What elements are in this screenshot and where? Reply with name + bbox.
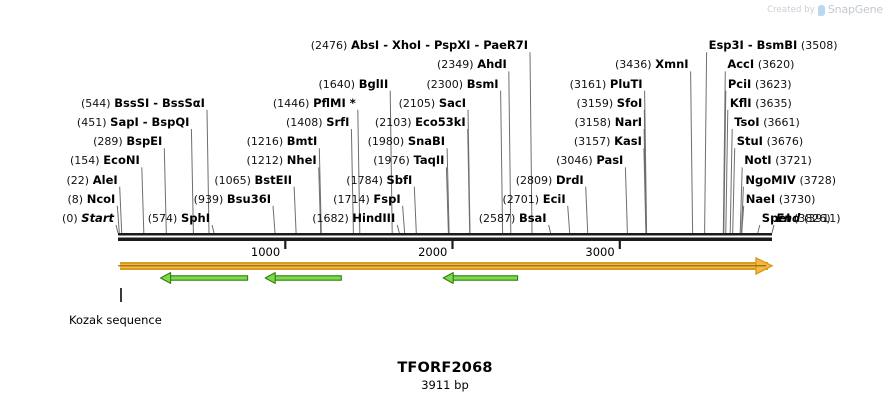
site-position: (3620): [758, 58, 795, 71]
site-enzyme: Eco53kI: [415, 115, 466, 129]
site-enzyme: EciI: [543, 192, 566, 206]
site-enzyme: PciI: [728, 77, 751, 91]
site-enzyme: AbsI - XhoI - PspXI - PaeR7I: [351, 38, 528, 52]
primer-arrowhead-reverse: [265, 273, 275, 284]
site-enzyme: EcoNI: [103, 153, 139, 167]
site-position: (3508): [801, 39, 838, 52]
restriction-site-label[interactable]: End (3911): [776, 212, 841, 225]
restriction-site-label[interactable]: (0) Start: [62, 212, 114, 225]
site-position: (2809): [516, 174, 553, 187]
restriction-site-label[interactable]: (2476) AbsI - XhoI - PspXI - PaeR7I: [311, 39, 528, 52]
axis-tick-label: 1000: [251, 245, 280, 259]
restriction-site-label[interactable]: (2701) EciI: [503, 193, 566, 206]
site-leader-line: [772, 225, 774, 233]
site-position: (3046): [556, 154, 593, 167]
site-position: (451): [77, 116, 107, 129]
primer-arrows-group: [161, 273, 518, 284]
site-position: (2587): [479, 212, 516, 225]
site-enzyme: BssSI - BssSαI: [114, 96, 205, 110]
site-enzyme: PflMI *: [313, 96, 356, 110]
axis-tick: [451, 241, 453, 249]
backbone-line-top: [118, 233, 772, 236]
restriction-site-label[interactable]: (2809) DrdI: [516, 174, 584, 187]
restriction-site-label[interactable]: (1446) PflMI *: [273, 97, 356, 110]
restriction-site-label[interactable]: (2587) BsaI: [479, 212, 547, 225]
site-enzyme: KflI: [730, 96, 752, 110]
site-leader-line: [625, 167, 627, 233]
site-position: (1408): [286, 116, 323, 129]
restriction-site-label[interactable]: (1784) SbfI: [346, 174, 412, 187]
site-leader-line: [705, 52, 707, 233]
primer-arrow-body: [274, 276, 341, 280]
site-enzyme: KasI: [614, 134, 642, 148]
sequence-length: 3911 bp: [0, 378, 890, 392]
site-position: (2300): [426, 78, 463, 91]
site-enzyme: AleI: [93, 173, 118, 187]
site-position: (22): [67, 174, 90, 187]
restriction-site-label[interactable]: (1980) SnaBI: [368, 135, 446, 148]
site-position: (3728): [799, 174, 836, 187]
ruler-group: [118, 233, 772, 241]
site-position: (3676): [767, 135, 804, 148]
site-leader-line: [116, 225, 118, 233]
restriction-site-label[interactable]: (3161) PluTI: [570, 78, 643, 91]
site-leader-line: [117, 206, 119, 233]
site-position: (3161): [570, 78, 607, 91]
site-leader-line: [509, 71, 511, 233]
site-leader-line: [294, 187, 296, 233]
site-enzyme: NarI: [615, 115, 642, 129]
site-leader-line: [120, 187, 122, 233]
site-enzyme: XmnI: [655, 57, 688, 71]
site-enzyme: BmtI: [287, 134, 318, 148]
restriction-site-label[interactable]: (8) NcoI: [67, 193, 115, 206]
site-enzyme: SbfI: [387, 173, 413, 187]
site-enzyme: HindIII: [352, 211, 395, 225]
axis-tick-label: 2000: [418, 245, 447, 259]
primer-arrowhead-reverse: [443, 273, 453, 284]
site-position: (3623): [755, 78, 792, 91]
restriction-site-label[interactable]: (3158) NarI: [575, 116, 643, 129]
site-position: (2701): [503, 193, 540, 206]
site-enzyme: BstEII: [255, 173, 293, 187]
restriction-site-label[interactable]: (3159) SfoI: [577, 97, 643, 110]
restriction-site-label[interactable]: (1976) TaqII: [373, 154, 444, 167]
site-position: (544): [81, 97, 111, 110]
site-position: (3158): [575, 116, 612, 129]
site-position: (3730): [779, 193, 816, 206]
sequence-title-block: TFORF2068 3911 bp: [0, 360, 890, 392]
site-position: (3436): [615, 58, 652, 71]
restriction-site-label[interactable]: (1216) BmtI: [247, 135, 318, 148]
restriction-site-label[interactable]: (22) AleI: [67, 174, 118, 187]
site-enzyme: SfoI: [617, 96, 642, 110]
site-position: (3159): [577, 97, 614, 110]
primer-arrow: [265, 273, 341, 284]
site-leader-line: [726, 110, 728, 233]
site-enzyme: BsmI: [467, 77, 499, 91]
primer-arrowhead-reverse: [161, 273, 171, 284]
site-enzyme: SnaBI: [408, 134, 445, 148]
site-leader-line: [142, 167, 144, 233]
site-enzyme: SacI: [439, 96, 466, 110]
primer-arrow: [161, 273, 248, 284]
orf-arrow-group: [118, 258, 772, 274]
restriction-site-label[interactable]: KflI (3635): [730, 97, 792, 110]
restriction-site-label[interactable]: (451) SapI - BspQI: [77, 116, 189, 129]
restriction-site-label[interactable]: NgoMIV (3728): [745, 174, 836, 187]
site-enzyme: NheI: [287, 153, 317, 167]
site-enzyme: PluTI: [610, 77, 643, 91]
restriction-site-label[interactable]: (1408) SrfI: [286, 116, 349, 129]
restriction-site-label[interactable]: Esp3I - BsmBI (3508): [709, 39, 838, 52]
site-position: (1784): [346, 174, 383, 187]
site-leader-line: [568, 206, 570, 233]
site-enzyme: TsoI: [734, 115, 759, 129]
site-enzyme: SphI: [181, 211, 210, 225]
site-enzyme: SapI - BspQI: [110, 115, 189, 129]
site-leader-line: [549, 225, 551, 233]
restriction-site-label[interactable]: (1714) FspI: [333, 193, 400, 206]
restriction-site-label[interactable]: PciI (3623): [728, 78, 792, 91]
axis-tick-label: 3000: [585, 245, 614, 259]
site-enzyme: AccI: [727, 57, 754, 71]
site-enzyme: Start: [81, 211, 114, 225]
primer-arrow-body: [170, 276, 248, 280]
site-position: (1714): [333, 193, 370, 206]
orf-arrow-edge-bottom: [120, 268, 768, 270]
site-leader-line: [730, 129, 732, 233]
restriction-site-label[interactable]: (289) BspEI: [93, 135, 162, 148]
site-leader-line: [397, 225, 399, 233]
site-position: (2476): [311, 39, 348, 52]
axis-tick: [619, 241, 621, 249]
kozak-feature-label: Kozak sequence: [69, 313, 162, 327]
restriction-site-label[interactable]: (2103) Eco53kI: [375, 116, 466, 129]
restriction-site-label[interactable]: (3157) KasI: [574, 135, 642, 148]
site-leader-line: [530, 52, 532, 233]
sequence-name: TFORF2068: [0, 360, 890, 376]
site-enzyme: StuI: [737, 134, 763, 148]
site-enzyme: PasI: [596, 153, 623, 167]
restriction-site-label[interactable]: (2105) SacI: [399, 97, 466, 110]
site-enzyme: SrfI: [326, 115, 349, 129]
restriction-site-label[interactable]: (1640) BglII: [319, 78, 389, 91]
site-position: (1682): [312, 212, 349, 225]
restriction-site-label[interactable]: (2349) AhdI: [437, 58, 507, 71]
site-enzyme: NaeI: [746, 192, 775, 206]
restriction-site-label[interactable]: (544) BssSI - BssSαI: [81, 97, 205, 110]
kozak-feature-tick: [120, 288, 122, 302]
site-enzyme: AhdI: [477, 57, 507, 71]
restriction-site-label[interactable]: (939) Bsu36I: [194, 193, 271, 206]
site-position: (8): [67, 193, 83, 206]
site-enzyme: Esp3I - BsmBI: [709, 38, 798, 52]
site-enzyme: FspI: [373, 192, 400, 206]
site-enzyme: NgoMIV: [745, 173, 795, 187]
site-position: (1212): [247, 154, 284, 167]
backbone-line-bottom: [118, 238, 772, 242]
primer-arrow-body: [452, 276, 517, 280]
site-position: (2105): [399, 97, 436, 110]
site-position: (3635): [755, 97, 792, 110]
site-enzyme: BglII: [359, 77, 389, 91]
restriction-site-label[interactable]: StuI (3676): [737, 135, 803, 148]
site-enzyme: DrdI: [556, 173, 584, 187]
restriction-site-label[interactable]: (3436) XmnI: [615, 58, 689, 71]
restriction-site-label[interactable]: (1065) BstEII: [214, 174, 292, 187]
site-leader-line: [403, 206, 405, 233]
site-leader-line: [212, 225, 214, 233]
site-position: (574): [148, 212, 178, 225]
axis-tick: [284, 241, 286, 249]
restriction-site-label[interactable]: TsoI (3661): [734, 116, 800, 129]
site-position: (3157): [574, 135, 611, 148]
site-leader-line: [273, 206, 275, 233]
site-position: (1446): [273, 97, 310, 110]
site-position: (939): [194, 193, 224, 206]
site-position: (1065): [214, 174, 251, 187]
site-position: (1640): [319, 78, 356, 91]
site-leader-line: [758, 225, 760, 233]
site-enzyme: Bsu36I: [227, 192, 271, 206]
restriction-site-label[interactable]: (3046) PasI: [556, 154, 623, 167]
site-enzyme: TaqII: [414, 153, 445, 167]
site-enzyme: BspEI: [126, 134, 162, 148]
site-position: (3721): [775, 154, 812, 167]
site-leader-line: [691, 71, 693, 233]
site-position: (154): [70, 154, 100, 167]
site-enzyme: NcoI: [87, 192, 116, 206]
site-position: (1980): [368, 135, 405, 148]
restriction-site-label[interactable]: (1682) HindIII: [312, 212, 395, 225]
site-position: (3911): [804, 212, 841, 225]
restriction-site-label[interactable]: (1212) NheI: [247, 154, 317, 167]
restriction-site-label[interactable]: (154) EcoNI: [70, 154, 140, 167]
site-position: (289): [93, 135, 123, 148]
orf-arrow-edge-top: [120, 262, 768, 264]
restriction-site-label[interactable]: (2300) BsmI: [426, 78, 498, 91]
site-leader-line: [586, 187, 588, 233]
site-enzyme: NotI: [744, 153, 771, 167]
site-leader-line: [414, 187, 416, 233]
site-position: (0): [62, 212, 78, 225]
site-position: (2103): [375, 116, 412, 129]
site-position: (2349): [437, 58, 474, 71]
restriction-site-label[interactable]: NotI (3721): [744, 154, 812, 167]
primer-arrow: [443, 273, 517, 284]
restriction-site-label[interactable]: NaeI (3730): [746, 193, 816, 206]
restriction-site-label[interactable]: (574) SphI: [148, 212, 210, 225]
site-enzyme: End: [776, 211, 800, 225]
site-leader-line: [733, 148, 735, 233]
restriction-site-label[interactable]: AccI (3620): [727, 58, 794, 71]
site-position: (1976): [373, 154, 410, 167]
site-position: (3661): [763, 116, 800, 129]
orf-center-line: [118, 265, 766, 266]
axis-ticks-group: 100020003000: [251, 241, 621, 259]
site-position: (1216): [247, 135, 284, 148]
site-enzyme: BsaI: [519, 211, 547, 225]
